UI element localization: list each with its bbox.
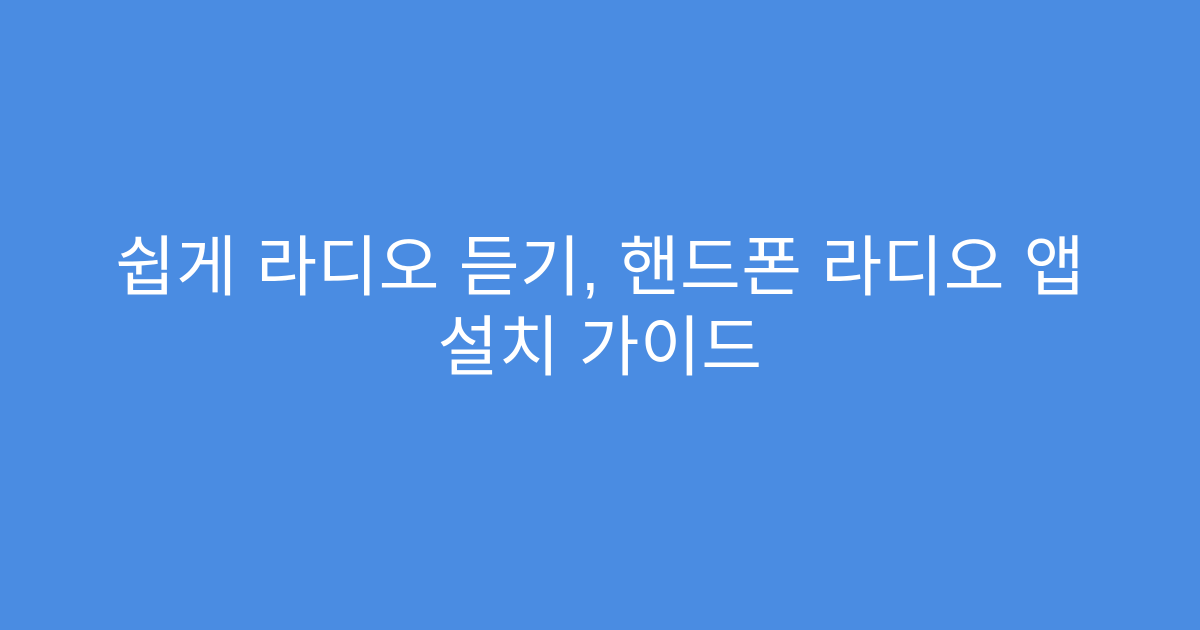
share-card: 쉽게 라디오 듣기, 핸드폰 라디오 앱 설치 가이드 bbox=[0, 0, 1200, 630]
headline-block: 쉽게 라디오 듣기, 핸드폰 라디오 앱 설치 가이드 bbox=[60, 227, 1140, 387]
page-title: 쉽게 라디오 듣기, 핸드폰 라디오 앱 설치 가이드 bbox=[72, 227, 1128, 387]
